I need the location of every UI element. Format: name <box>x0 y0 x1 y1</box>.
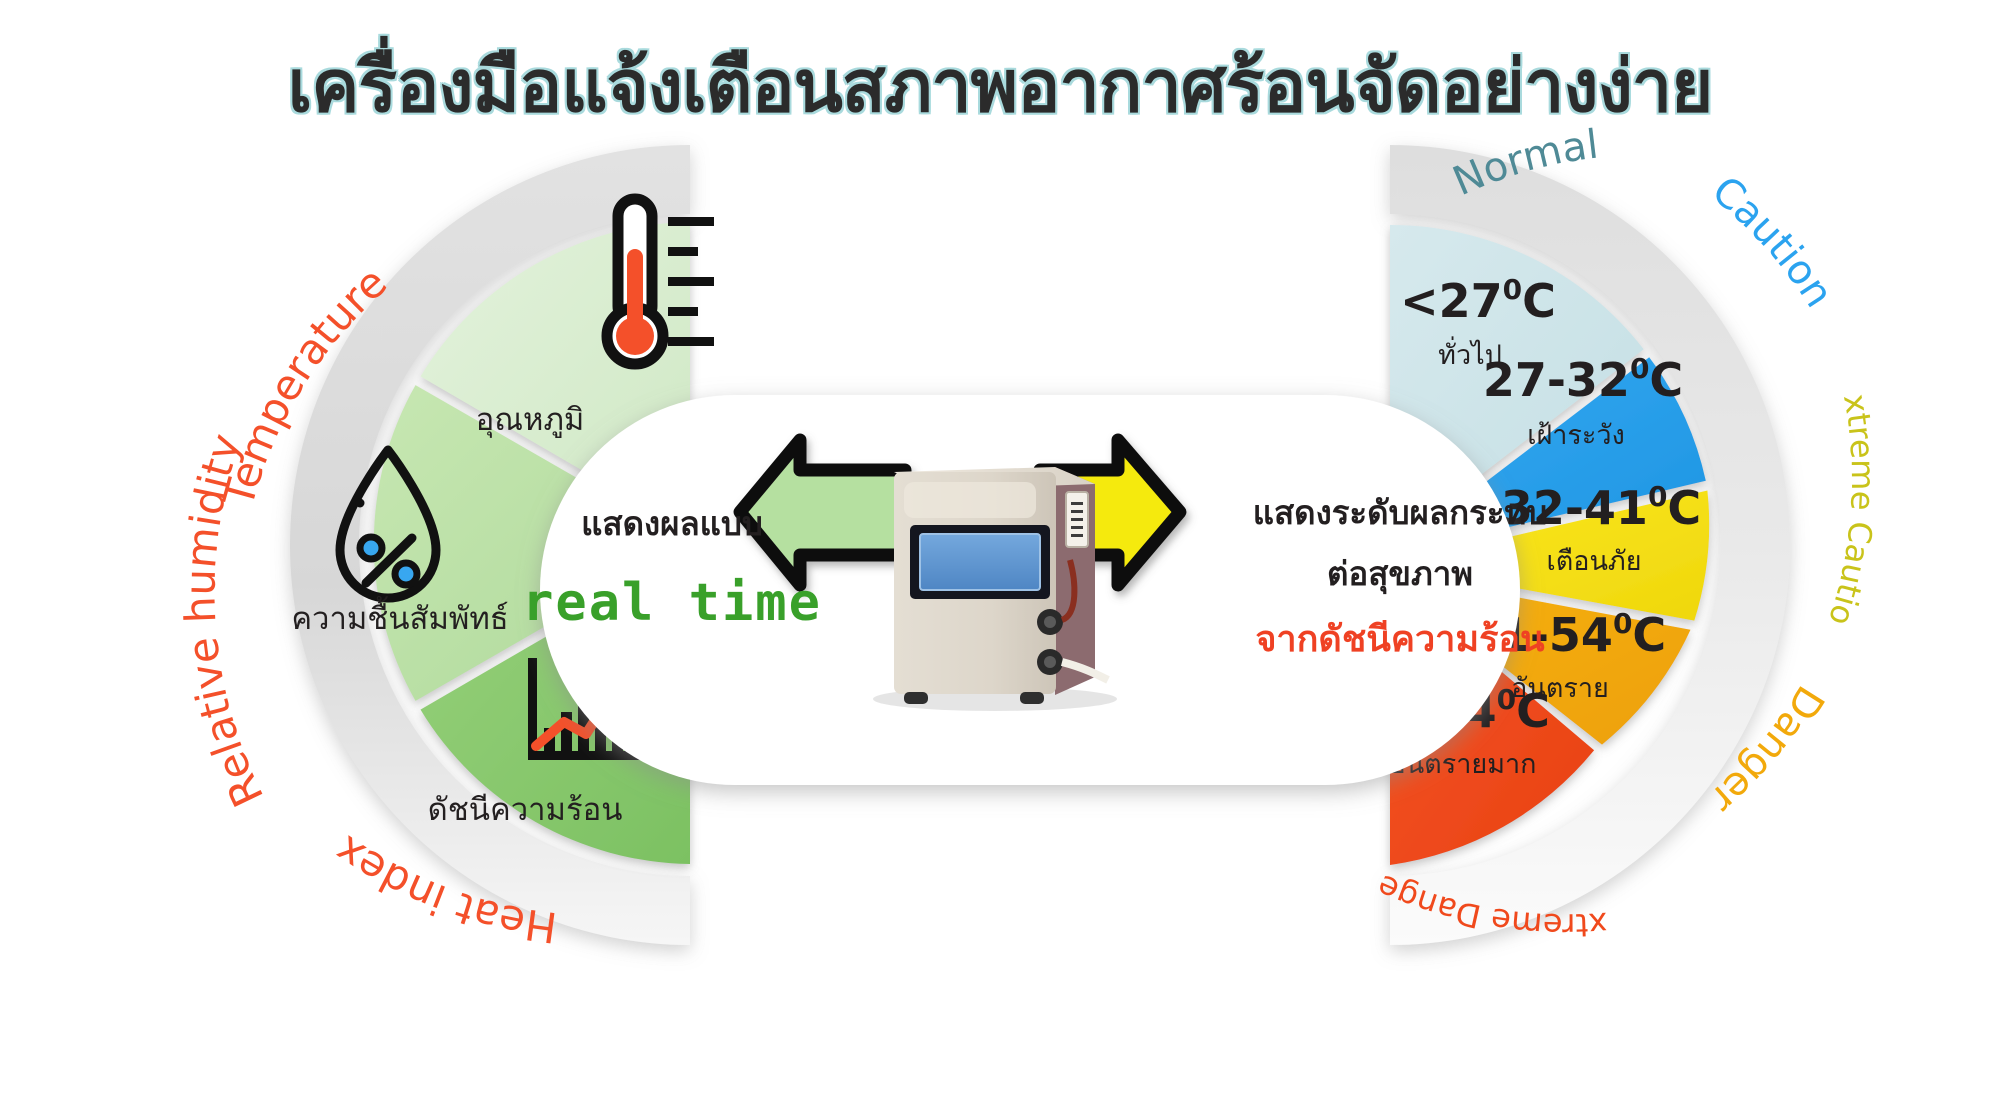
caution-unit: C <box>1649 353 1683 407</box>
danger-unit: C <box>1632 608 1666 662</box>
page-title: เครื่องมือแจ้งเตือนสภาพอากาศร้อนจัดอย่าง… <box>0 28 2000 143</box>
normal-unit: C <box>1522 274 1556 328</box>
left-label-heat-index-thai: ดัชนีความร้อน <box>428 792 623 828</box>
center-right-line2: ต่อสุขภาพ <box>1327 554 1473 595</box>
left-label-temperature-thai: อุณหภูมิ <box>476 402 585 439</box>
infographic-canvas: Temperature Relative humidity Heat index <box>0 0 2000 1111</box>
normal-unit-sup: 0 <box>1503 273 1522 306</box>
center-panel: แสดงผลแบบ real time แสดงระดับผลกระทบ ต่อ… <box>522 395 1547 785</box>
extreme-danger-unit-sup: 0 <box>1497 683 1516 716</box>
normal-range: <27 <box>1400 274 1503 328</box>
center-right-line3: จากดัชนีความร้อน <box>1255 619 1545 660</box>
right-arc-label-caution-text: Caution <box>1703 168 1842 316</box>
danger-unit-sup: 0 <box>1613 607 1632 640</box>
infographic-root: เครื่องมือแจ้งเตือนสภาพอากาศร้อนจัดอย่าง… <box>0 0 2000 1111</box>
extreme-caution-thai: เตือนภัย <box>1546 546 1641 577</box>
center-left-line1: แสดงผลแบบ <box>581 504 763 543</box>
left-label-humidity-thai: ความชื้นสัมพัทธ์ <box>291 596 508 637</box>
heat-index-meter-device <box>873 467 1117 711</box>
center-left-line2: real time <box>522 573 822 633</box>
center-right-line1: แสดงระดับผลกระทบ <box>1253 493 1547 532</box>
caution-unit-sup: 0 <box>1630 352 1649 385</box>
caution-thai: เฝ้าระวัง <box>1527 420 1625 451</box>
svg-text:<270C: <270C <box>1400 273 1556 328</box>
right-arc-label-caution: Caution <box>1703 168 1842 316</box>
extreme-danger-unit: C <box>1516 684 1550 738</box>
svg-text:27-320C: 27-320C <box>1483 352 1683 407</box>
caution-range: 27-32 <box>1483 353 1630 407</box>
extreme-caution-unit: C <box>1667 481 1701 535</box>
extreme-caution-unit-sup: 0 <box>1648 480 1667 513</box>
